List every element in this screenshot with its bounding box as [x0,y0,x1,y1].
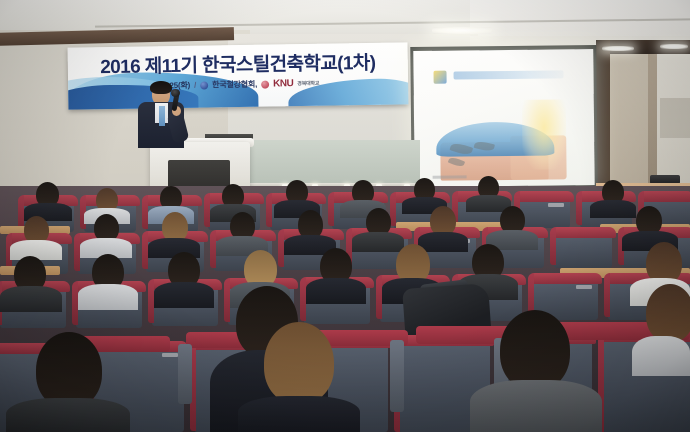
ceiling-light-icon [602,46,634,51]
attendee-shoulders [0,286,62,312]
attendee-shoulders [590,200,636,218]
attendee-shoulders [154,282,214,308]
event-banner: 2016 제11기 한국스틸건축학교(1차) .10.25(화) / 한국철강협… [68,42,409,109]
door-panel-accent [660,98,690,138]
door-frame [596,40,610,190]
banner-org-secondary-sub: 경북대학교 [297,80,319,87]
ceiling-light-icon [432,27,492,34]
attendee-shoulders [238,396,360,432]
slide-logo-icon [434,71,447,84]
armrest [390,340,404,412]
attendee-head [264,322,334,404]
attendee-shoulders [470,380,602,432]
armrest [178,344,192,404]
seat [554,232,612,268]
seat-tag [548,203,564,207]
knu-logo-icon [261,80,269,88]
banner-separator: / [194,81,196,90]
attendee-shoulders [306,278,366,304]
slide-footer-text [433,175,467,178]
slide-highlight [522,99,567,169]
speaker-tie [159,106,165,126]
ceiling-light-icon [660,44,688,49]
attendee-head [646,284,690,342]
attendee-shoulders [6,398,130,432]
seat-tag [576,285,592,289]
banner-title: 2016 제11기 한국스틸건축학교(1차) [68,47,408,79]
seat [518,196,570,228]
kosa-logo-icon [200,81,208,89]
lecture-hall-photo: 2016 제11기 한국스틸건축학교(1차) .10.25(화) / 한국철강협… [0,0,690,432]
seat-tag [162,353,178,357]
attendee-shoulders [78,284,138,310]
door-mullion [648,54,657,184]
slide-title-text [454,70,564,79]
attendee-head [36,332,102,408]
attendee-shoulders [632,336,690,376]
projector-screen [413,49,594,187]
attendee-shoulders [352,232,404,252]
banner-org-primary: 한국철강협회, [212,79,257,91]
door-panel-left [610,54,650,184]
attendee-head [500,310,570,390]
banner-org-secondary: KNU [273,78,293,89]
attendee-shoulders [418,232,468,252]
microphone-head-icon [171,89,180,97]
speaker-hair [150,81,172,94]
whiteboard [240,140,420,189]
